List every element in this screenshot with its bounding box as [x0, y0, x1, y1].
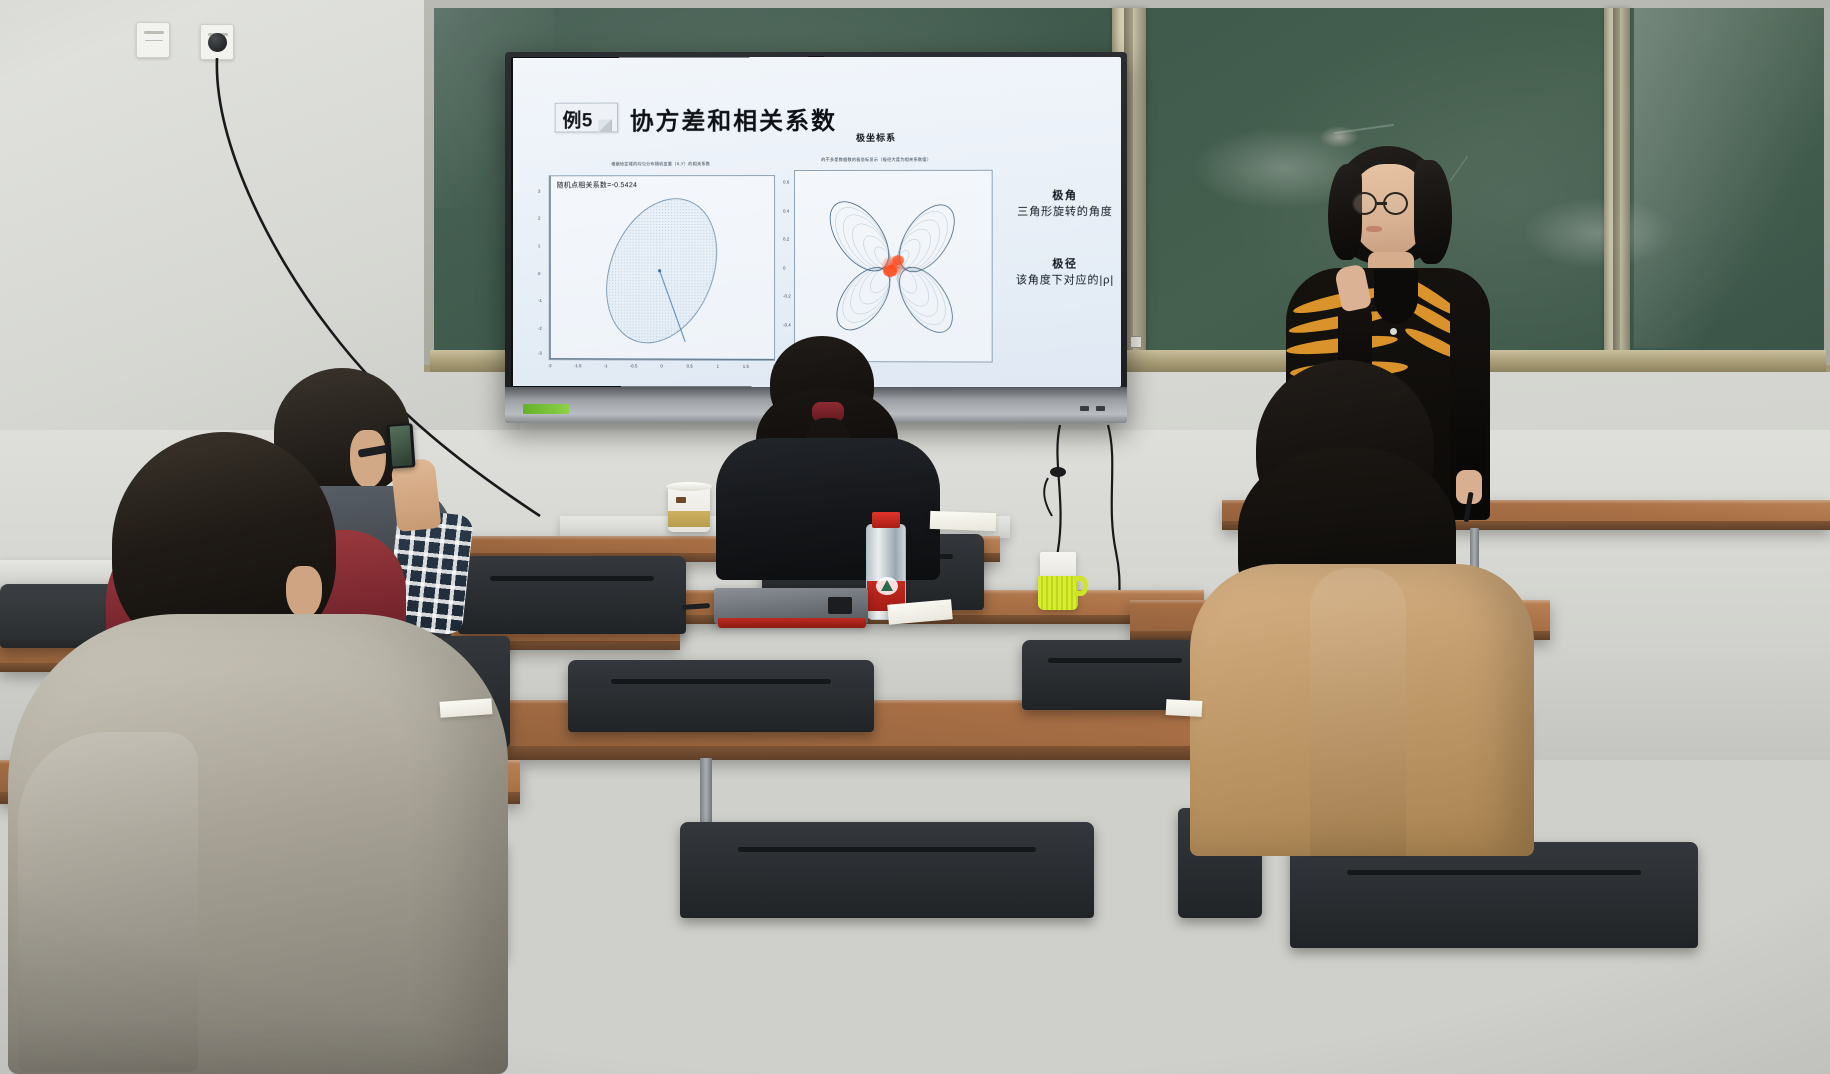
- chair-backrest-slot: [1347, 870, 1641, 875]
- slide-title-fold-icon: [598, 119, 612, 132]
- y-tick: -3: [538, 351, 542, 356]
- wall-outlet[interactable]: [136, 22, 170, 58]
- bottle-logo-mountain-icon: [881, 580, 893, 591]
- teacher-glasses-bridge: [1377, 202, 1387, 205]
- y-tick: 1: [538, 243, 540, 248]
- coat-fold: [1310, 568, 1406, 858]
- student-front-left: [0, 432, 520, 1074]
- board-slider-track-right[interactable]: [1604, 8, 1630, 352]
- annotation-polar-radius: 极径 该角度下对应的|ρ|: [1002, 257, 1121, 289]
- x-tick: -1: [604, 363, 608, 368]
- annotation-heading: 极径: [1002, 257, 1121, 273]
- board-glare: [1634, 8, 1830, 348]
- cup-tea-level: [668, 511, 710, 527]
- x-tick: 0: [660, 363, 662, 368]
- track-groove: [1613, 8, 1620, 352]
- y-tick: 0.2: [783, 237, 789, 242]
- teacher-glasses-lens: [1352, 192, 1377, 215]
- slide-title-number: 例5: [563, 106, 593, 133]
- chair-backrest-slot: [1048, 658, 1182, 663]
- x-tick: 0.5: [687, 364, 693, 369]
- chair[interactable]: [568, 660, 874, 732]
- student-ear: [286, 566, 322, 618]
- teacher-mouth: [1366, 226, 1382, 232]
- chair[interactable]: [680, 822, 1094, 918]
- y-tick: 0.4: [783, 208, 789, 213]
- y-tick: 3: [538, 188, 540, 193]
- chair-backrest-slot: [611, 679, 831, 684]
- sweater-fold: [18, 732, 198, 1072]
- y-tick: -0.4: [783, 322, 791, 327]
- left-chart-y-axis: [550, 176, 551, 359]
- paper-sheet[interactable]: [1166, 699, 1203, 717]
- right-chart-caption: 的不多是数据数的极坐标显示（极径大度为相关系数值）: [773, 157, 980, 163]
- brand-sticker-icon: [523, 404, 569, 414]
- annotation-polar-angle: 极角 三角形旋转的角度: [1002, 189, 1121, 221]
- track-lock-icon: [1130, 336, 1142, 348]
- cup-handle[interactable]: [1074, 576, 1088, 596]
- student-right: [1182, 356, 1542, 856]
- chair-backrest-slot: [738, 847, 1036, 852]
- y-tick: -0.2: [783, 294, 791, 299]
- cup-holder-green[interactable]: [1038, 576, 1078, 610]
- y-tick: 2: [538, 216, 540, 221]
- cup-rim: [666, 482, 712, 491]
- display-ports[interactable]: [1080, 406, 1105, 411]
- y-tick: 0: [538, 271, 540, 276]
- left-chart-annotation: 随机点相关系数=-0.5424: [557, 180, 637, 190]
- classroom-scene: 例5 协方差和相关系数 根据给定域的均匀分布随机变量（X,Y）的相关系数: [0, 0, 1830, 1074]
- student-jacket: [716, 438, 940, 580]
- annotation-subtitle: 该角度下对应的|ρ|: [1002, 273, 1121, 289]
- student-center: [706, 330, 946, 580]
- x-tick: -1.5: [574, 363, 582, 368]
- x-tick: -0.5: [630, 363, 638, 368]
- annotation-heading: 极角: [1002, 189, 1121, 205]
- x-tick: -2: [548, 363, 552, 368]
- annotation-subtitle: 三角形旋转的角度: [1002, 205, 1121, 221]
- left-chart-caption: 根据给定域的均匀分布随机变量（X,Y）的相关系数: [547, 161, 775, 167]
- wall-outlet-plugged[interactable]: [200, 24, 234, 60]
- right-chart-heading: 极坐标系: [771, 131, 982, 144]
- y-tick: -1: [538, 298, 542, 303]
- y-tick: 0.6: [783, 180, 789, 185]
- power-plug-icon: [208, 33, 227, 52]
- paper-sheet[interactable]: [930, 511, 997, 531]
- y-tick: 0: [783, 265, 786, 270]
- cup-logo-icon: [676, 497, 686, 503]
- sleeve-logo-icon: [828, 597, 852, 614]
- bottle-cap[interactable]: [872, 512, 900, 528]
- notebook-red[interactable]: [718, 618, 866, 628]
- teacher-hair-side: [1414, 160, 1452, 264]
- paper-cup-tea[interactable]: [668, 486, 710, 532]
- y-tick: -2: [538, 326, 542, 331]
